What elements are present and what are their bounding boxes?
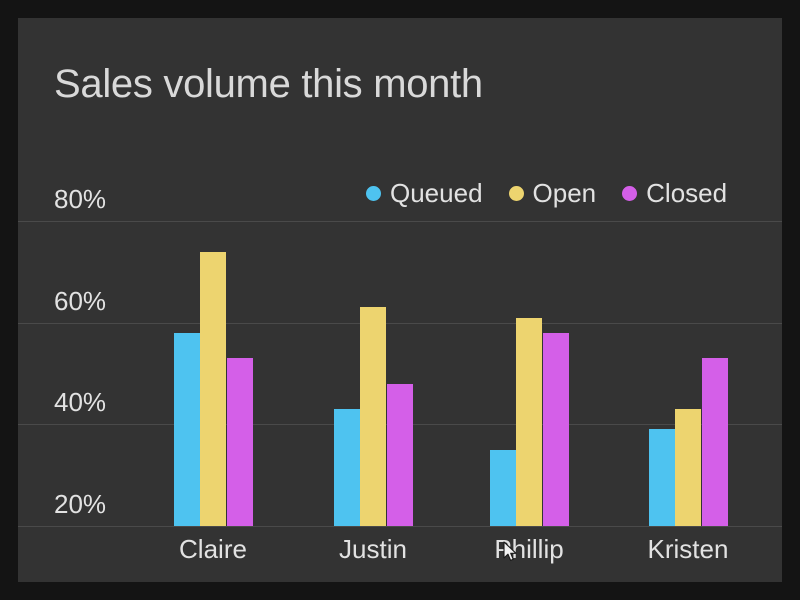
bar[interactable] (543, 333, 569, 526)
x-axis-tick-label: Phillip (449, 534, 609, 565)
bar-chart-plot: 80%60%40%20% ClaireJustinPhillipKristen (18, 18, 782, 582)
x-axis-tick-label: Justin (293, 534, 453, 565)
x-axis-tick-label: Kristen (608, 534, 768, 565)
bar[interactable] (227, 358, 253, 526)
bar[interactable] (702, 358, 728, 526)
bar[interactable] (675, 409, 701, 526)
bar[interactable] (360, 307, 386, 526)
bar[interactable] (490, 450, 516, 526)
bar[interactable] (387, 384, 413, 526)
bar[interactable] (334, 409, 360, 526)
bar[interactable] (174, 333, 200, 526)
bar[interactable] (516, 318, 542, 526)
bar-series-container (18, 18, 782, 582)
mouse-pointer-icon (503, 541, 519, 563)
x-axis-tick-label: Claire (133, 534, 293, 565)
bar[interactable] (200, 252, 226, 527)
bar[interactable] (649, 429, 675, 526)
